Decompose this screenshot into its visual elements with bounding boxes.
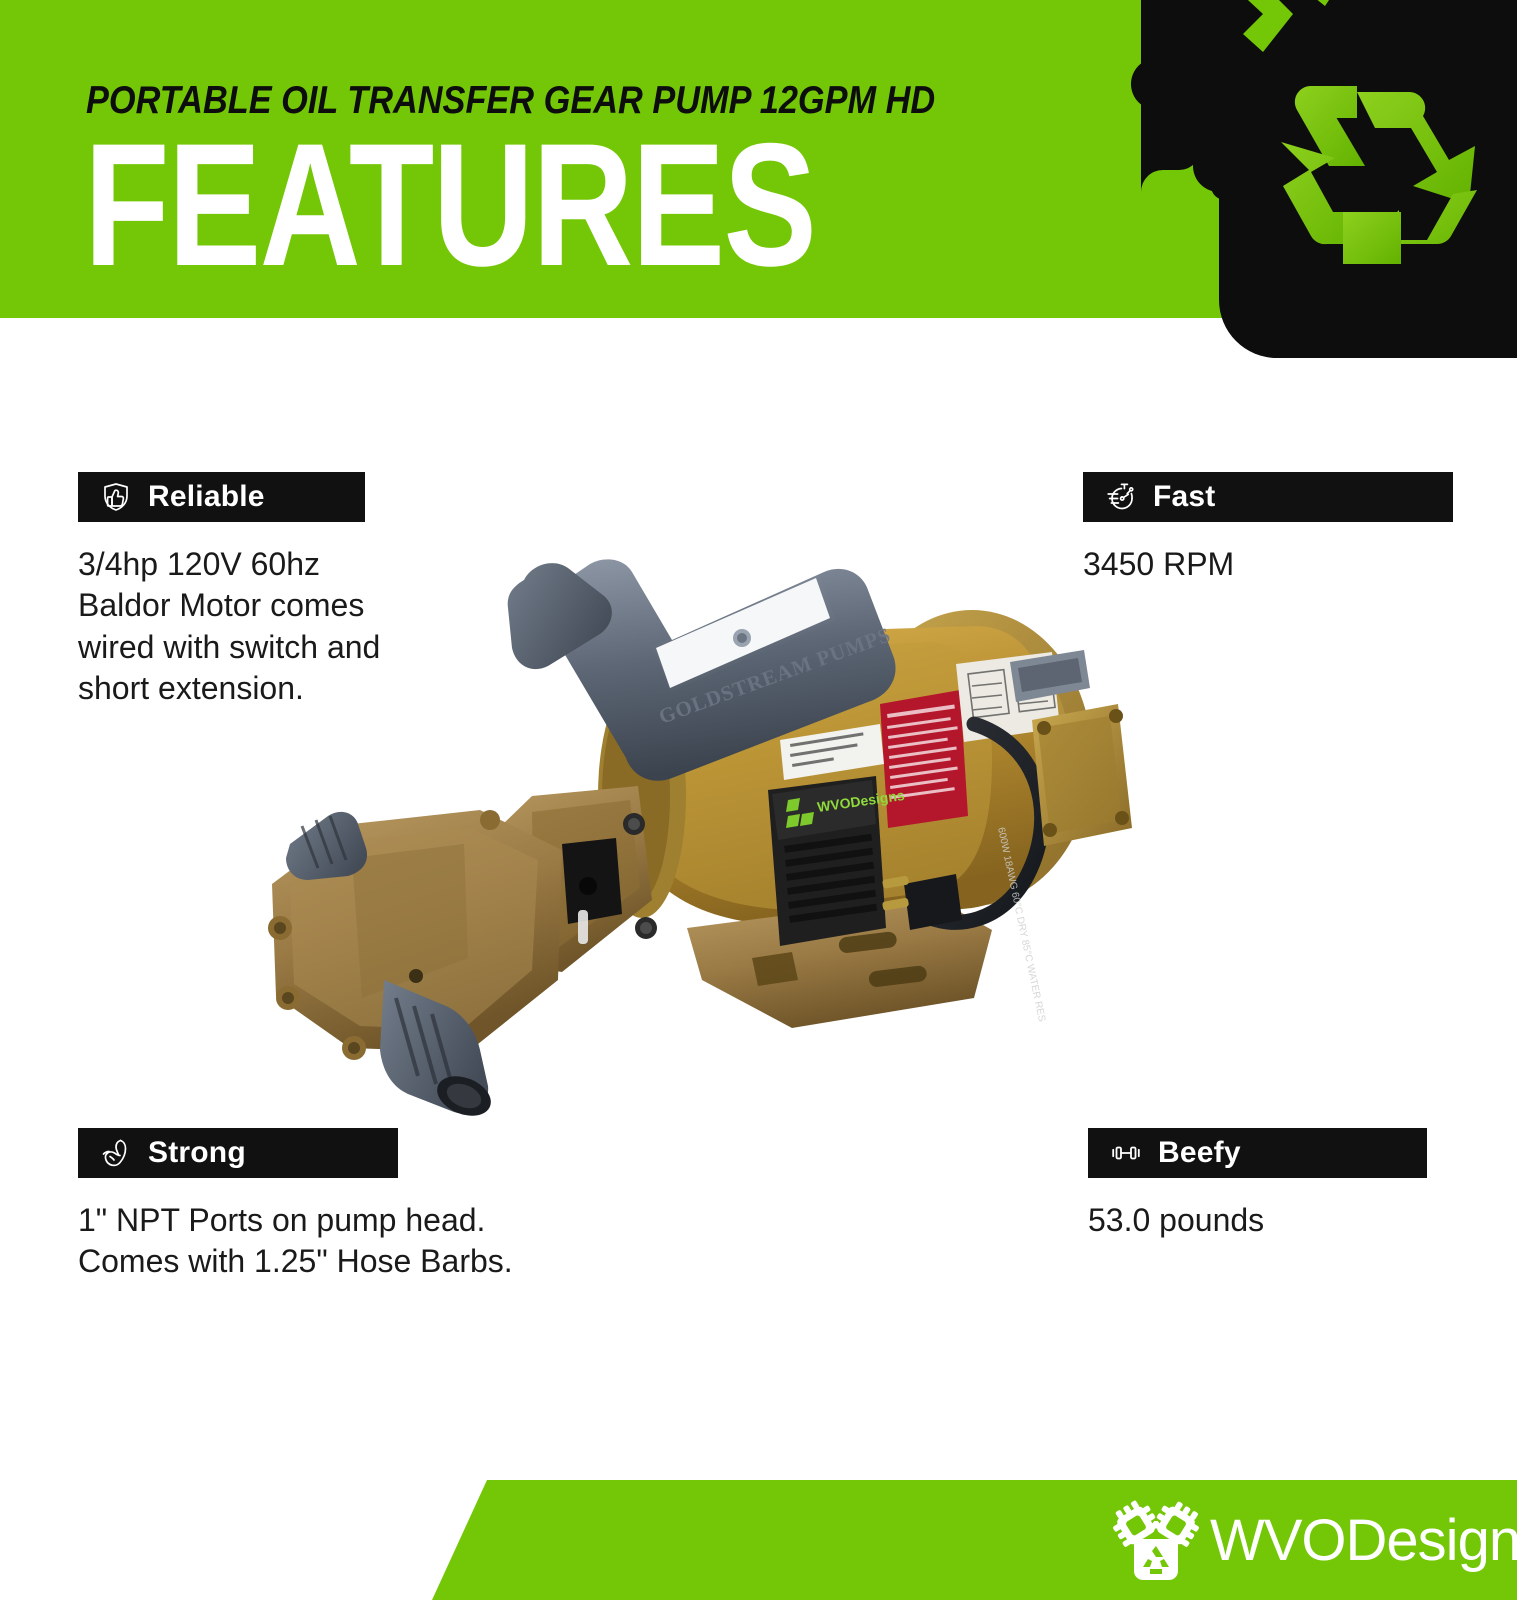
stopwatch-icon	[1105, 481, 1137, 513]
feature-fast-body: 3450 RPM	[1083, 544, 1453, 585]
feature-beefy: Beefy 53.0 pounds	[1088, 1128, 1427, 1241]
feature-reliable-label: Reliable	[148, 482, 265, 512]
feature-reliable-body: 3/4hp 120V 60hz Baldor Motor comes wired…	[78, 544, 380, 709]
warning-label	[880, 690, 968, 828]
flexed-bicep-icon	[100, 1137, 132, 1169]
feature-fast-label: Fast	[1153, 482, 1216, 512]
feature-strong-label: Strong	[148, 1138, 246, 1168]
page-title: FEATURES	[84, 118, 815, 293]
gear-recycle-logo-icon	[1108, 1495, 1204, 1587]
feature-fast-bar: Fast	[1083, 472, 1453, 522]
thumbs-up-shield-icon	[100, 481, 132, 513]
feature-beefy-bar: Beefy	[1088, 1128, 1427, 1178]
feature-beefy-body: 53.0 pounds	[1088, 1200, 1427, 1241]
feature-strong-body: 1" NPT Ports on pump head. Comes with 1.…	[78, 1200, 513, 1283]
feature-strong: Strong 1" NPT Ports on pump head. Comes …	[78, 1128, 513, 1283]
dumbbell-icon	[1110, 1137, 1142, 1169]
feature-fast: Fast 3450 RPM	[1083, 472, 1453, 585]
footer-logo: WVODesigns	[1108, 1495, 1517, 1587]
header-banner: PORTABLE OIL TRANSFER GEAR PUMP 12GPM HD…	[0, 0, 1517, 318]
feature-strong-bar: Strong	[78, 1128, 398, 1178]
footer-brand-name: WVODesigns	[1210, 1512, 1517, 1570]
hose-barb-upper	[286, 812, 367, 880]
feature-beefy-label: Beefy	[1158, 1138, 1241, 1168]
feature-reliable-bar: Reliable	[78, 472, 365, 522]
feature-reliable: Reliable 3/4hp 120V 60hz Baldor Motor co…	[78, 472, 380, 709]
